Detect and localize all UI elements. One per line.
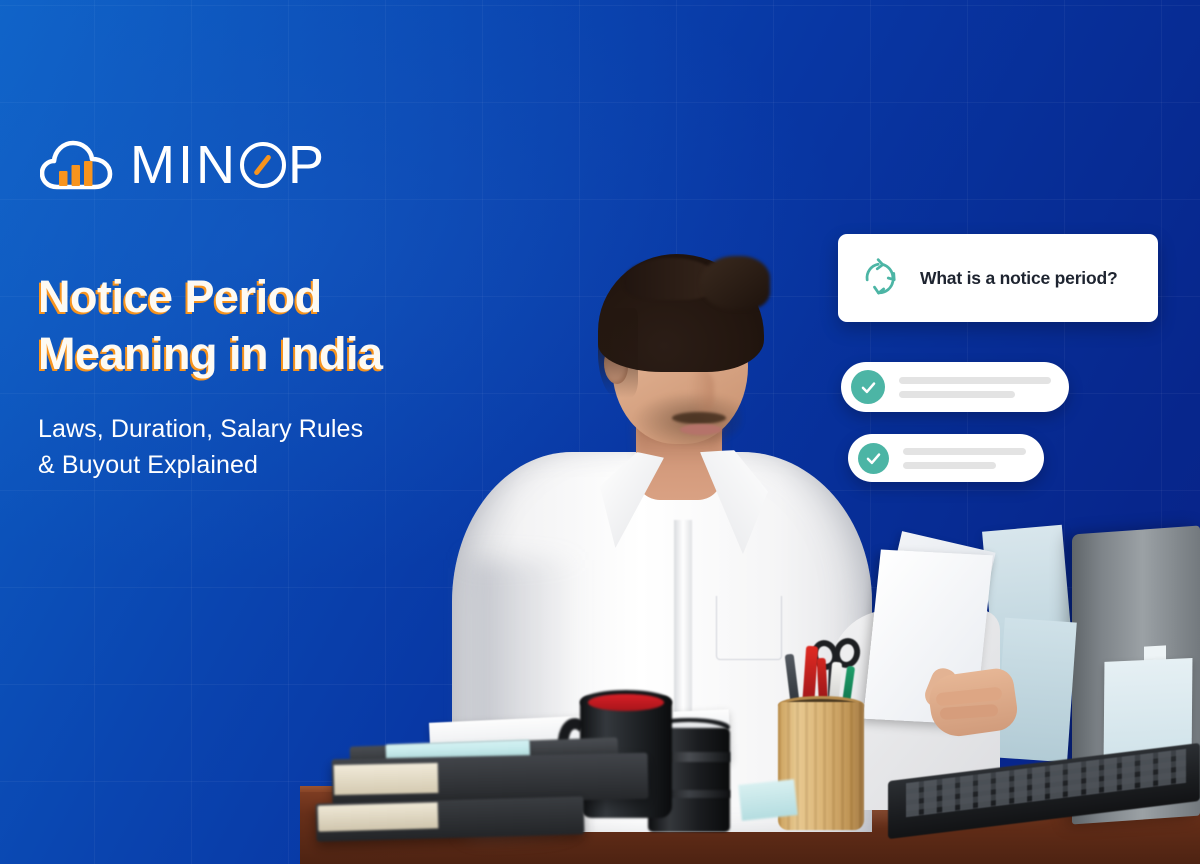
thumb [921,665,960,712]
wordmark: MIN P [130,138,327,192]
document-sheet-back [868,531,995,699]
hair-sideburn [598,308,638,398]
hair-wave [700,256,770,310]
wooden-pen-cup [778,702,864,830]
pen [785,654,801,711]
placeholder-line [903,462,996,469]
neck-shadow [636,404,722,464]
pen-cup-grain [778,702,864,830]
desk-reflection [620,790,1050,820]
sticky-note-tab [1144,645,1166,664]
eye-left [646,360,678,369]
scissors-handle [808,637,841,673]
pen-cup-opening [784,699,858,711]
placeholder-text-lines [903,448,1026,469]
scissors-blade [827,664,836,712]
book-pages [318,802,439,831]
sticky-note-on-laptop [1104,658,1193,768]
blue-document-front [995,618,1077,763]
forearm-sleeve [830,610,1000,810]
placeholder-line [903,448,1026,455]
coffee-mug [580,696,672,818]
laptop-keyboard [906,749,1186,817]
question-card[interactable]: What is a notice period? [838,234,1158,322]
document-sheet-held [863,550,993,725]
pen [817,658,829,712]
eye-right [702,358,732,367]
hand [926,666,1020,739]
check-circle-icon [851,370,885,404]
shirt-torso [452,452,872,832]
mug-interior [588,694,664,711]
shirt-placket [674,520,692,820]
faq-card-stack: What is a notice period? [838,234,1158,482]
paper-stack [429,709,731,775]
blue-document-back [982,525,1074,671]
teal-sticky-note [738,779,797,821]
book-middle [332,753,649,806]
subtitle-line-1: Laws, Duration, Salary Rules [38,412,363,448]
placeholder-text-lines [899,377,1051,398]
check-icon [859,378,878,397]
book-bottom [316,796,585,841]
lens-cap [650,722,728,742]
eyebrow-right [698,340,739,352]
pen [828,662,842,713]
headline-line-2: Meaning in India [38,325,383,382]
mug-rim [580,690,672,714]
book-pages [334,763,439,795]
lens-top [648,718,730,736]
camera-lens [648,728,730,832]
page-subtitle: Laws, Duration, Salary Rules & Buyout Ex… [38,412,363,483]
face [612,268,748,444]
book-top [350,737,619,772]
brand-logo[interactable]: MIN P [40,138,327,192]
checklist-item[interactable] [848,434,1044,482]
check-circle-icon [858,443,889,474]
shirt-shading [470,560,580,830]
wordmark-part-2: P [288,138,327,192]
wordmark-o-letter [240,142,286,188]
lips [680,424,722,435]
mug-handle [554,716,600,779]
scissors-handle [831,635,863,670]
check-icon [864,449,883,468]
pen-cup-rim [778,696,864,714]
laptop-lid [1072,526,1200,825]
desk-front-edge [300,786,1200,796]
sticky-note-pad [386,739,531,772]
neck [636,404,722,500]
shirt-collar-right [700,450,774,554]
hair-fringe [624,258,716,300]
finger [936,687,1003,707]
hair [598,254,764,372]
mustache [672,412,726,424]
cloud-bar-chart-icon [40,138,114,192]
ear [604,346,628,384]
checklist-item[interactable] [841,362,1069,412]
lens-ring [648,790,730,798]
beard-shading [634,392,742,448]
headline-line-1: Notice Period [38,268,383,325]
nose [690,370,714,414]
question-text: What is a notice period? [920,268,1117,289]
pen [802,646,818,711]
subtitle-line-2: & Buyout Explained [38,448,363,484]
wordmark-part-1: MIN [130,138,238,192]
wooden-desk [300,792,1200,864]
hero-banner: MIN P Notice Period Meaning in India Law… [0,0,1200,864]
placeholder-line [899,391,1015,398]
refresh-cycle-icon [858,256,902,300]
pen [841,666,855,713]
page-title: Notice Period Meaning in India [38,268,383,382]
shirt-collar-left [600,452,664,548]
shirt-pocket [716,596,782,660]
lens-ring [648,752,730,762]
laptop-base [888,743,1200,839]
eyebrow-left [640,342,683,355]
placeholder-line [899,377,1051,384]
finger [940,704,999,720]
